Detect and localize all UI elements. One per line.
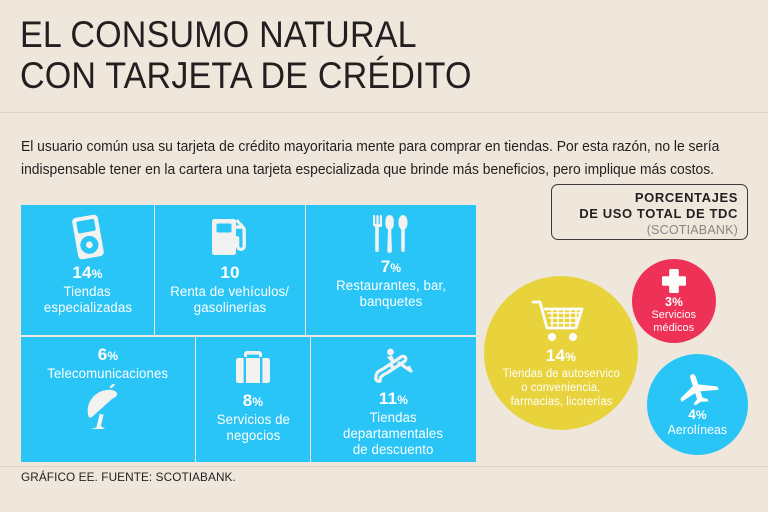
footer-divider: [0, 466, 768, 467]
cell-label-line-1: Renta de vehículos/: [171, 284, 290, 300]
cell-label-line-2: especializadas: [43, 300, 131, 316]
airplane-icon: [676, 372, 720, 405]
cell-label-line-1: Tiendas: [64, 284, 111, 300]
circle-tiendas-autoservicio[interactable]: 14% Tiendas de autoservico o convenienci…: [484, 276, 638, 430]
cell-label-line-1: Tiendas: [370, 410, 417, 426]
medical-cross-icon: [661, 268, 687, 294]
header-divider: [0, 112, 768, 113]
grid-cell-telecomunicaciones[interactable]: 6% Telecomunicaciones: [21, 337, 195, 462]
grid-row-top: 14% Tiendas especializadas 10 Renta de v…: [21, 205, 476, 335]
cell-label-line-2: gasolinerías: [194, 300, 267, 316]
percentages-callout-box: PORCENTAJES DE USO TOTAL DE TDC (SCOTIAB…: [551, 184, 748, 240]
grid-cell-servicios-negocios[interactable]: 8% Servicios de negocios: [196, 337, 310, 462]
cell-label-line-2: departamentales: [343, 426, 443, 442]
grid-row-bottom: 6% Telecomunicaciones: [21, 336, 476, 462]
cell-value: 10: [220, 263, 239, 284]
cell-label-line-1: Telecomunicaciones: [48, 366, 169, 382]
grid-cell-tiendas-especializadas[interactable]: 14% Tiendas especializadas: [21, 205, 154, 335]
circle-label-line-1: Servicios: [652, 309, 697, 322]
callout-source: (SCOTIABANK): [558, 222, 738, 238]
cell-value: 11%: [379, 389, 408, 410]
circle-label-line-1: Aerolíneas: [668, 423, 728, 438]
grid-cell-restaurantes[interactable]: 7% Restaurantes, bar, banquetes: [306, 205, 476, 335]
circle-value: 14%: [546, 346, 576, 367]
escalator-icon: [371, 344, 417, 388]
cell-value: 8%: [243, 391, 264, 412]
category-grid: 14% Tiendas especializadas 10 Renta de v…: [21, 205, 476, 461]
circle-value: 4%: [688, 407, 707, 423]
satellite-dish-icon: [80, 383, 136, 433]
intro-paragraph: El usuario común usa su tarjeta de crédi…: [21, 136, 725, 182]
briefcase-icon: [232, 344, 274, 390]
grid-cell-renta-vehiculos[interactable]: 10 Renta de vehículos/ gasolinerías: [155, 205, 305, 335]
cell-value: 7%: [381, 257, 402, 278]
page-title: EL CONSUMO NATURAL CON TARJETA DE CRÉDIT…: [20, 14, 750, 96]
cutlery-icon: [371, 212, 411, 256]
cell-label-line-2: banquetes: [360, 294, 423, 310]
callout-line-1: PORCENTAJES: [558, 190, 738, 206]
circle-label-line-1: Tiendas de autoservico: [502, 367, 619, 381]
footer-source: GRÁFICO EE. FUENTE: SCOTIABANK.: [21, 470, 236, 484]
media-player-icon: [70, 212, 106, 262]
circle-label-line-3: farmacias, licorerías: [510, 395, 612, 409]
fuel-pump-icon: [208, 212, 252, 262]
circle-label-line-2: médicos: [654, 322, 695, 335]
circle-aerolineas[interactable]: 4% Aerolíneas: [647, 354, 748, 455]
cell-value: 14%: [72, 263, 102, 284]
circle-servicios-medicos[interactable]: 3% Servicios médicos: [632, 259, 716, 343]
circle-label-line-2: o conveniencia,: [522, 381, 601, 395]
grid-cell-tiendas-departamentales[interactable]: 11% Tiendas departamentales de descuento: [311, 337, 476, 462]
title-line-2: CON TARJETA DE CRÉDITO: [20, 55, 692, 96]
shopping-cart-icon: [530, 298, 592, 344]
cell-value: 6%: [98, 345, 119, 366]
cell-label-line-3: de descuento: [353, 442, 434, 458]
cell-label-line-2: negocios: [226, 428, 280, 444]
callout-line-2: DE USO TOTAL DE TDC: [558, 206, 738, 222]
cell-label-line-1: Restaurantes, bar,: [336, 278, 446, 294]
circle-value: 3%: [665, 295, 683, 309]
cell-label-line-1: Servicios de: [216, 412, 289, 428]
infographic-page: EL CONSUMO NATURAL CON TARJETA DE CRÉDIT…: [0, 0, 768, 512]
title-line-1: EL CONSUMO NATURAL: [20, 14, 692, 55]
